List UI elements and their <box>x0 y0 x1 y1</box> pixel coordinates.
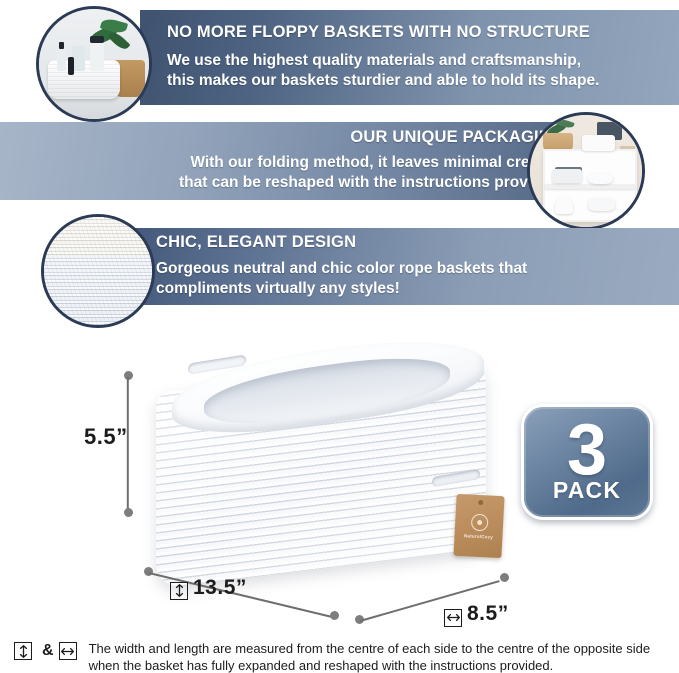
height-arrow-icon <box>14 642 32 660</box>
pack-count-number: 3 <box>567 420 607 480</box>
feature-photo-packaging <box>527 112 645 230</box>
feature-body-line: compliments virtually any styles! <box>156 279 527 299</box>
decor-vase-shape <box>555 198 573 214</box>
feature-photo-structure <box>36 6 152 122</box>
feature-heading-design: CHIC, ELEGANT DESIGN <box>156 234 356 251</box>
footnote-icons: & <box>14 640 82 660</box>
brand-logo-icon <box>470 513 488 531</box>
infographic-canvas: NO MORE FLOPPY BASKETS WITH NO STRUCTURE… <box>0 0 679 673</box>
bottle-shape <box>90 42 104 71</box>
feature-body-packaging: With our folding method, it leaves minim… <box>179 153 564 193</box>
feature-body-line: that can be reshaped with the instructio… <box>179 173 564 193</box>
width-arrow-icon <box>444 609 462 627</box>
photo-content <box>530 115 642 227</box>
pack-count-badge: 3 PACK <box>521 404 653 520</box>
dimension-endpoint-length-end <box>330 611 339 620</box>
dimension-length-value: 13.5” <box>193 576 247 599</box>
footnote-ampersand: & <box>42 642 54 660</box>
dimension-endpoint-width-end <box>500 573 509 582</box>
product-hang-tag: NaturalCozy <box>453 494 504 558</box>
dropper-shape <box>68 57 75 75</box>
rope-basket-shape <box>588 198 615 211</box>
dimension-label-height: 5.5” <box>84 424 128 450</box>
bottle-shape <box>57 49 67 71</box>
photo-content <box>44 217 152 325</box>
measurement-footnote: & The width and length are measured from… <box>14 640 664 673</box>
height-arrow-icon <box>170 582 188 600</box>
dimension-endpoint-height-bottom <box>124 508 133 517</box>
feature-banner-design: CHIC, ELEGANT DESIGN Gorgeous neutral an… <box>130 228 679 305</box>
rope-basket-shape <box>588 173 613 184</box>
feature-banner-structure: NO MORE FLOPPY BASKETS WITH NO STRUCTURE… <box>140 10 679 105</box>
pack-count-label: PACK <box>553 479 621 502</box>
footnote-line: when the basket has fully expanded and r… <box>89 657 651 673</box>
rope-basket-shape <box>552 169 581 184</box>
photo-content <box>39 9 149 119</box>
feature-body-design: Gorgeous neutral and chic color rope bas… <box>156 259 527 299</box>
rope-weave-lines <box>44 217 152 325</box>
tag-brand-label: NaturalCozy <box>464 533 493 540</box>
footnote-line: The width and length are measured from t… <box>89 640 651 657</box>
rope-basket-shape <box>582 135 616 151</box>
product-photo-basket: NaturalCozy <box>150 345 510 590</box>
feature-body-line: We use the highest quality materials and… <box>167 51 599 71</box>
feature-body-line: this makes our baskets sturdier and able… <box>167 71 599 91</box>
feature-body-line: With our folding method, it leaves minim… <box>179 153 564 173</box>
dimension-label-width: 8.5” <box>444 602 509 627</box>
feature-heading-structure: NO MORE FLOPPY BASKETS WITH NO STRUCTURE <box>167 24 590 41</box>
dimension-width-value: 8.5” <box>467 602 509 625</box>
feature-body-structure: We use the highest quality materials and… <box>167 51 599 91</box>
footnote-text: The width and length are measured from t… <box>89 640 651 673</box>
width-arrow-icon <box>59 642 77 660</box>
dimension-label-length: 13.5” <box>170 576 247 600</box>
feature-photo-design <box>41 214 155 328</box>
feature-body-line: Gorgeous neutral and chic color rope bas… <box>156 259 527 279</box>
